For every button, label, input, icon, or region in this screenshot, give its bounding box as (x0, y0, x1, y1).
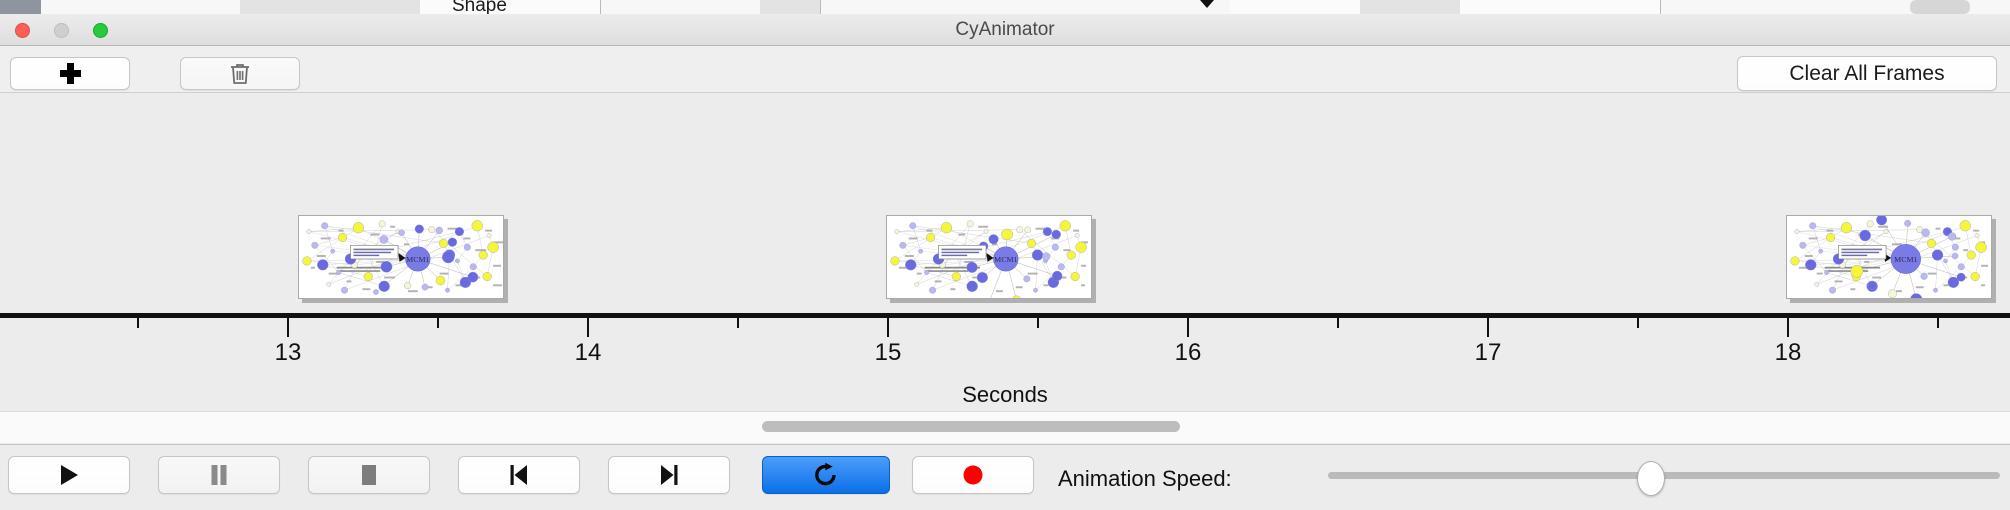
bg-segment (1230, 0, 1361, 14)
animation-speed-slider-thumb[interactable] (1637, 461, 1665, 496)
bg-segment (240, 0, 421, 14)
pause-button[interactable] (158, 456, 280, 494)
axis-title: Seconds (0, 382, 2010, 408)
first-frame-button[interactable] (458, 456, 580, 494)
timeline-ruler-line (0, 313, 2010, 318)
ruler-tick (1787, 318, 1789, 337)
bg-segment (1360, 0, 1461, 14)
bg-sort-caret-icon (1200, 0, 1214, 8)
play-button[interactable] (8, 456, 130, 494)
ruler-tick-label: 16 (1175, 339, 1202, 367)
bg-scrollbar-thumb[interactable] (1910, 0, 1970, 14)
ruler-tick (587, 318, 589, 337)
svg-text:MCM1: MCM1 (994, 255, 1017, 264)
loop-button[interactable] (762, 456, 890, 494)
delete-frame-button[interactable] (180, 57, 300, 90)
ruler-tick-label: 15 (875, 339, 902, 367)
title-bar: CyAnimator (0, 14, 2010, 46)
ruler-tick (887, 318, 889, 337)
bg-segment (1460, 0, 1661, 14)
record-icon (961, 463, 985, 487)
network-graph-thumbnail: MCM1 (1787, 216, 1991, 298)
timeline-frame-thumbnail[interactable]: MCM1 (886, 215, 1092, 299)
skip-back-icon (508, 463, 530, 487)
skip-forward-icon (658, 463, 680, 487)
pause-icon (208, 463, 230, 487)
stop-icon (358, 463, 380, 487)
bg-segment (0, 0, 41, 14)
clear-all-frames-label: Clear All Frames (1789, 62, 1944, 86)
animation-speed-label: Animation Speed: (1058, 466, 1232, 492)
ruler-tick-label: 14 (575, 339, 602, 367)
ruler-tick (1637, 318, 1639, 328)
ruler-tick-label: 13 (275, 339, 302, 367)
ruler-tick (737, 318, 739, 328)
ruler-tick (1487, 318, 1489, 337)
network-graph-thumbnail: MCM1 (887, 216, 1091, 298)
ruler-tick (1037, 318, 1039, 328)
clear-all-frames-button[interactable]: Clear All Frames (1737, 56, 1997, 91)
toolbar (0, 46, 2010, 93)
ruler-tick (137, 318, 139, 328)
ruler-tick-label: 17 (1475, 339, 1502, 367)
window-title: CyAnimator (0, 14, 2010, 46)
ruler-tick (1937, 318, 1939, 328)
timeline-scrollbar-thumb[interactable] (762, 421, 1180, 432)
stop-button[interactable] (308, 456, 430, 494)
timeline-frame-thumbnail[interactable]: MCM1 (1786, 215, 1992, 299)
ruler-tick (437, 318, 439, 328)
add-frame-button[interactable] (10, 57, 130, 90)
last-frame-button[interactable] (608, 456, 730, 494)
bg-shape-label: Shape (452, 0, 507, 15)
bg-segment (760, 0, 821, 14)
ruler-tick (1337, 318, 1339, 328)
loop-icon (813, 462, 839, 488)
cyanimator-window: Shape CyAnimator Clear All Frames MCM1 (0, 0, 2010, 510)
svg-text:MCM1: MCM1 (406, 255, 429, 264)
ruler-tick (1187, 318, 1189, 337)
network-graph-thumbnail: MCM1 (299, 216, 503, 298)
record-button[interactable] (912, 456, 1034, 494)
play-icon (58, 463, 80, 487)
timeline-frame-thumbnail[interactable]: MCM1 (298, 215, 504, 299)
ruler-tick (287, 318, 289, 337)
svg-text:MCM1: MCM1 (1894, 255, 1917, 264)
trash-icon (229, 62, 251, 86)
bg-segment (420, 0, 601, 14)
host-app-background-strip: Shape (0, 0, 2010, 15)
plus-icon (60, 63, 81, 84)
ruler-tick-label: 18 (1775, 339, 1802, 367)
